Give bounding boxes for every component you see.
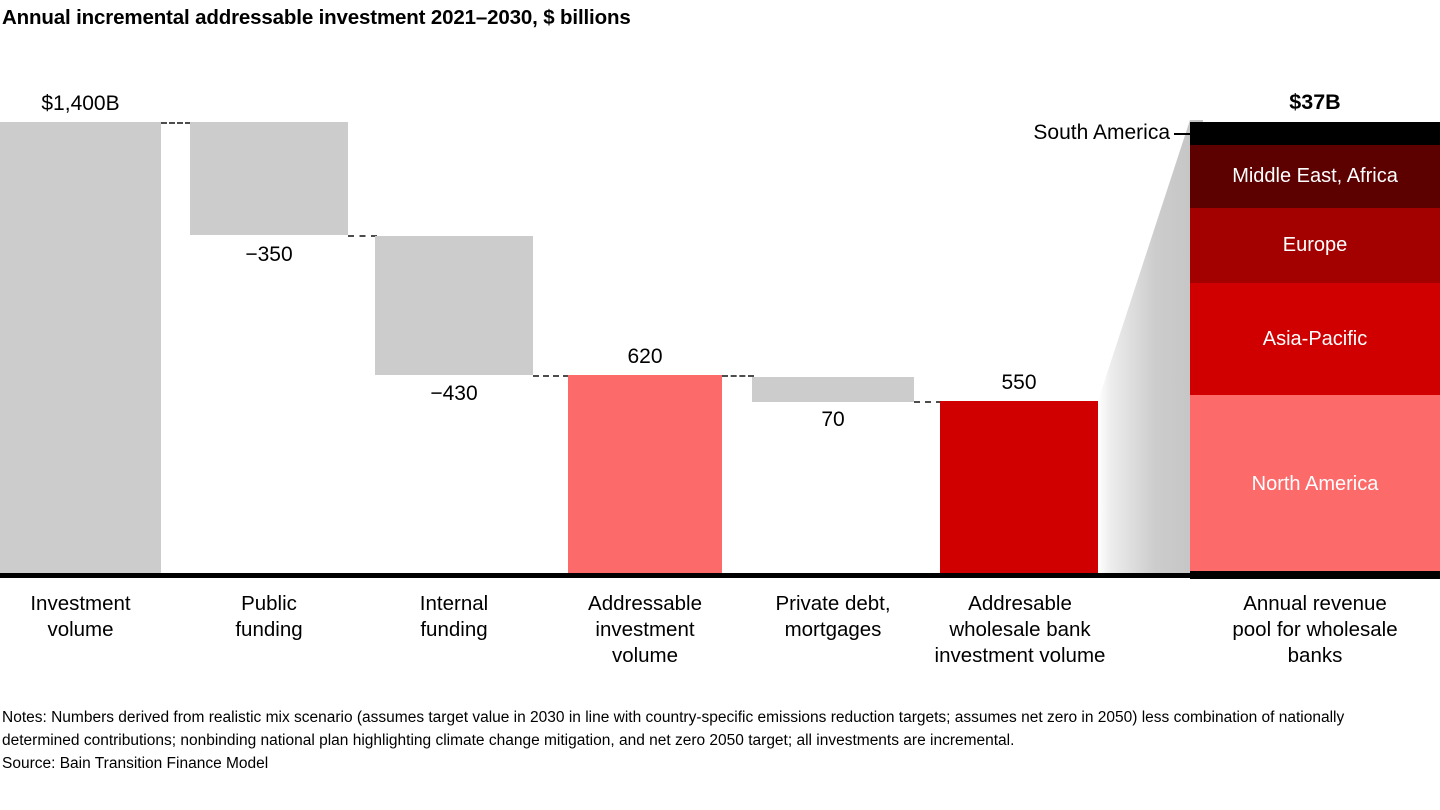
stack-segment-label: Asia-Pacific xyxy=(1263,328,1367,351)
stack-segment-north-america[interactable]: North America xyxy=(1190,395,1440,573)
connector-2 xyxy=(348,235,377,237)
bar-investment-volume[interactable] xyxy=(0,122,161,573)
stack-segment-europe[interactable]: Europe xyxy=(1190,208,1440,283)
connector-3 xyxy=(533,375,569,377)
category-label-public-funding: Public funding xyxy=(190,591,348,643)
stack-segment-label: Middle East, Africa xyxy=(1232,165,1398,188)
category-label-internal-funding: Internal funding xyxy=(375,591,533,643)
bar-private-debt-mortgages[interactable] xyxy=(752,377,914,402)
category-label-private-debt-mortgages: Private debt, mortgages xyxy=(745,591,921,643)
connector-5 xyxy=(914,401,942,403)
footer: Notes: Numbers derived from realistic mi… xyxy=(2,707,1422,776)
category-label-annual-revenue-pool: Annual revenue pool for wholesale banks xyxy=(1190,591,1440,669)
value-label-addresable-wholesale-bank-investment-volume: 550 xyxy=(940,371,1098,395)
category-label-investment-volume: Investment volume xyxy=(0,591,161,643)
bar-internal-funding[interactable] xyxy=(375,236,533,375)
value-label-private-debt-mortgages: 70 xyxy=(752,408,914,432)
bar-addresable-wholesale-bank-investment-volume[interactable] xyxy=(940,401,1098,573)
value-label-public-funding: −350 xyxy=(190,243,348,267)
funnel-connector xyxy=(1098,120,1203,575)
axis-baseline-emphasis xyxy=(1190,571,1440,579)
callout-leader-line xyxy=(1174,133,1192,135)
value-label-internal-funding: −430 xyxy=(375,382,533,406)
chart-root: Annual incremental addressable investmen… xyxy=(0,0,1440,810)
stack-segment-label: Europe xyxy=(1283,234,1348,257)
stack-segment-south-america[interactable] xyxy=(1190,122,1440,145)
value-label-addressable-investment-volume: 620 xyxy=(568,345,722,369)
bar-public-funding[interactable] xyxy=(190,122,348,235)
stack-segment-label: North America xyxy=(1252,473,1379,496)
callout-label-south-america: South America xyxy=(930,121,1170,145)
value-label-annual-revenue-pool: $37B xyxy=(1190,90,1440,115)
category-label-addresable-wholesale-bank: Addresable wholesale bank investment vol… xyxy=(930,591,1110,669)
stack-segment-asia-pacific[interactable]: Asia-Pacific xyxy=(1190,283,1440,395)
connector-4 xyxy=(722,375,754,377)
stack-segment-middle-east-africa[interactable]: Middle East, Africa xyxy=(1190,145,1440,208)
stacked-column-annual-revenue-pool: Middle East, Africa Europe Asia-Pacific … xyxy=(1190,122,1440,573)
footer-notes: Notes: Numbers derived from realistic mi… xyxy=(2,707,1422,752)
footer-source: Source: Bain Transition Finance Model xyxy=(2,753,1422,776)
bar-addressable-investment-volume[interactable] xyxy=(568,375,722,573)
value-label-investment-volume: $1,400B xyxy=(0,92,161,116)
connector-1 xyxy=(161,122,191,124)
category-label-addressable-investment-volume: Addressable investment volume xyxy=(562,591,728,669)
plot-area: $1,400B −350 −430 620 70 550 xyxy=(0,0,1440,578)
